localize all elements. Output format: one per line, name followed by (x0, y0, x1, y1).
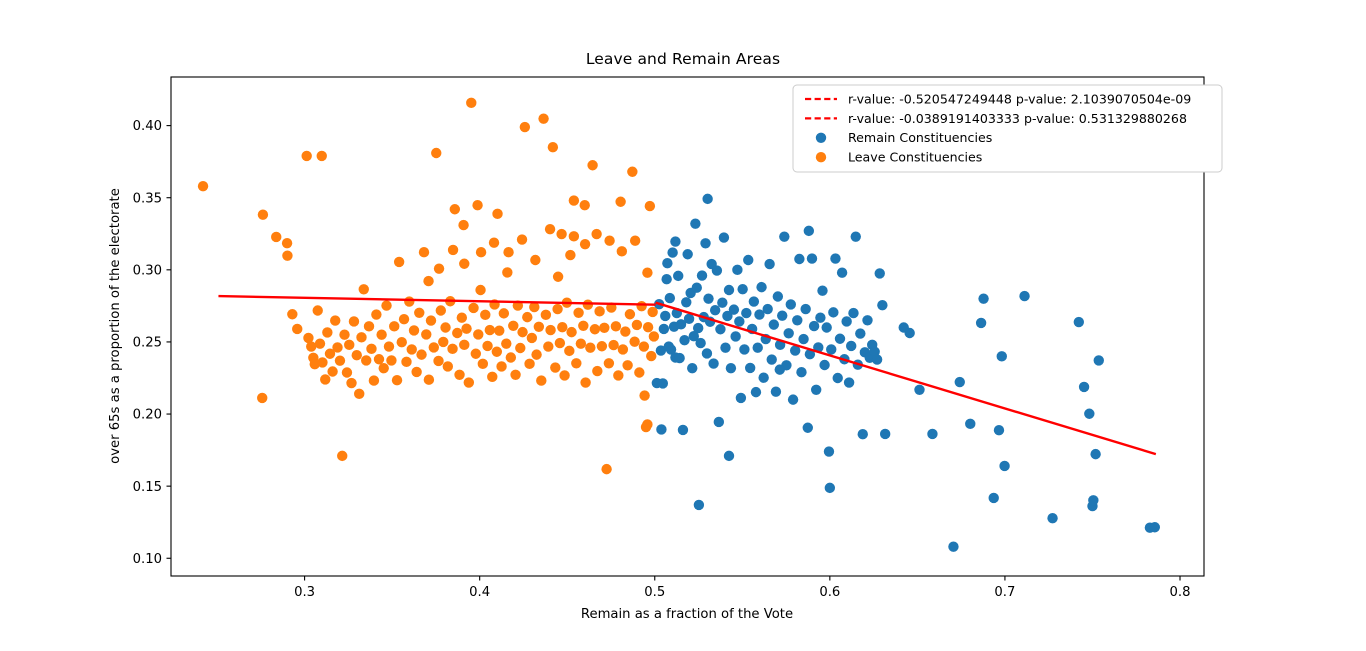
data-point (587, 160, 597, 170)
data-point (492, 347, 502, 357)
y-tick-label: 0.25 (133, 336, 162, 351)
data-point (659, 324, 669, 334)
data-point (679, 335, 689, 345)
data-point (687, 363, 697, 373)
data-point (649, 331, 659, 341)
data-point (487, 372, 497, 382)
data-point (758, 373, 768, 383)
data-point (454, 370, 464, 380)
data-point (344, 340, 354, 350)
data-point (682, 249, 692, 259)
data-point (515, 343, 525, 353)
data-point (361, 355, 371, 365)
data-point (591, 229, 601, 239)
data-point (424, 375, 434, 385)
data-point (556, 229, 566, 239)
y-tick-label: 0.40 (133, 119, 162, 134)
data-point (489, 238, 499, 248)
data-point (381, 300, 391, 310)
data-point (1090, 449, 1100, 459)
data-point (409, 325, 419, 335)
data-point (485, 325, 495, 335)
data-point (708, 358, 718, 368)
data-point (997, 351, 1007, 361)
data-point (448, 245, 458, 255)
legend-label: Remain Constituencies (848, 130, 992, 145)
data-point (743, 255, 753, 265)
data-point (625, 309, 635, 319)
data-point (545, 325, 555, 335)
data-point (684, 314, 694, 324)
data-point (661, 274, 671, 284)
data-point (788, 394, 798, 404)
data-point (494, 325, 504, 335)
data-point (416, 349, 426, 359)
data-point (576, 338, 586, 348)
x-tick-label: 0.3 (294, 585, 315, 600)
data-point (809, 321, 819, 331)
data-point (779, 231, 789, 241)
data-point (1094, 355, 1104, 365)
data-point (1047, 513, 1057, 523)
data-point (1074, 317, 1084, 327)
x-tick-label: 0.7 (994, 585, 1015, 600)
data-point (301, 151, 311, 161)
data-point (665, 293, 675, 303)
data-point (580, 200, 590, 210)
data-point (501, 338, 511, 348)
data-point (646, 351, 656, 361)
data-point (678, 425, 688, 435)
data-point (771, 386, 781, 396)
data-point (965, 419, 975, 429)
data-point (496, 361, 506, 371)
data-point (550, 362, 560, 372)
data-point (717, 298, 727, 308)
data-point (315, 338, 325, 348)
data-point (642, 268, 652, 278)
data-point (948, 542, 958, 552)
data-point (349, 316, 359, 326)
data-point (468, 303, 478, 313)
data-point (389, 321, 399, 331)
data-point (729, 304, 739, 314)
data-point (376, 330, 386, 340)
data-point (522, 312, 532, 322)
data-point (352, 350, 362, 360)
data-point (271, 232, 281, 242)
data-point (342, 367, 352, 377)
data-point (811, 385, 821, 395)
data-point (753, 343, 763, 353)
chart-legend[interactable]: r-value: -0.520547249448 p-value: 2.1039… (793, 85, 1222, 172)
data-point (492, 209, 502, 219)
data-point (475, 285, 485, 295)
data-point (712, 265, 722, 275)
data-point (694, 500, 704, 510)
data-point (798, 334, 808, 344)
data-point (830, 253, 840, 263)
data-point (858, 429, 868, 439)
data-point (767, 354, 777, 364)
data-point (478, 359, 488, 369)
data-point (620, 326, 630, 336)
x-tick-label: 0.6 (819, 585, 840, 600)
data-point (615, 197, 625, 207)
data-point (258, 210, 268, 220)
data-point (517, 234, 527, 244)
legend-label: Leave Constituencies (848, 150, 982, 165)
data-point (330, 315, 340, 325)
data-point (611, 321, 621, 331)
legend-marker-swatch (816, 152, 826, 162)
data-point (851, 231, 861, 241)
data-point (622, 360, 632, 370)
data-point (692, 283, 702, 293)
data-point (775, 364, 785, 374)
data-point (673, 271, 683, 281)
data-point (566, 327, 576, 337)
data-point (374, 354, 384, 364)
data-point (517, 327, 527, 337)
data-point (502, 267, 512, 277)
x-tick-label: 0.4 (469, 585, 490, 600)
data-point (749, 296, 759, 306)
x-axis-ticks: 0.30.40.50.60.70.8 (294, 576, 1190, 600)
data-point (835, 334, 845, 344)
data-point (618, 344, 628, 354)
data-point (848, 308, 858, 318)
data-point (585, 343, 595, 353)
data-point (536, 375, 546, 385)
data-point (580, 239, 590, 249)
data-point (630, 235, 640, 245)
data-point (762, 304, 772, 314)
data-point (604, 235, 614, 245)
data-point (999, 461, 1009, 471)
data-point (429, 342, 439, 352)
data-point (715, 324, 725, 334)
data-point (994, 425, 1004, 435)
data-point (404, 296, 414, 306)
data-point (506, 352, 516, 362)
data-point (784, 328, 794, 338)
data-point (877, 300, 887, 310)
data-point (751, 387, 761, 397)
data-point (647, 307, 657, 317)
data-point (458, 220, 468, 230)
data-point (720, 343, 730, 353)
data-point (459, 340, 469, 350)
data-point (257, 393, 267, 403)
data-point (538, 113, 548, 123)
data-point (292, 324, 302, 334)
data-point (794, 254, 804, 264)
data-point (819, 360, 829, 370)
data-point (667, 247, 677, 257)
data-point (702, 348, 712, 358)
data-point (880, 429, 890, 439)
data-point (927, 429, 937, 439)
data-point (719, 232, 729, 242)
data-point (436, 305, 446, 315)
data-point (800, 304, 810, 314)
data-point (703, 293, 713, 303)
data-point (826, 344, 836, 354)
data-point (394, 257, 404, 267)
data-point (989, 493, 999, 503)
x-tick-label: 0.5 (644, 585, 665, 600)
data-point (407, 344, 417, 354)
data-point (499, 308, 509, 318)
data-point (346, 378, 356, 388)
data-point (632, 320, 642, 330)
data-point (397, 337, 407, 347)
data-point (1150, 522, 1160, 532)
data-point (796, 367, 806, 377)
data-point (371, 309, 381, 319)
data-point (317, 357, 327, 367)
data-point (807, 253, 817, 263)
data-point (287, 309, 297, 319)
data-point (674, 353, 684, 363)
data-point (804, 226, 814, 236)
data-point (401, 357, 411, 367)
data-point (452, 328, 462, 338)
data-point (317, 151, 327, 161)
data-point (434, 263, 444, 273)
data-point (503, 247, 513, 257)
data-point (545, 224, 555, 234)
data-point (564, 346, 574, 356)
y-tick-label: 0.15 (133, 480, 162, 495)
data-point (534, 322, 544, 332)
data-point (629, 336, 639, 346)
data-point (573, 308, 583, 318)
data-point (824, 446, 834, 456)
data-point (976, 318, 986, 328)
data-point (837, 268, 847, 278)
data-point (580, 377, 590, 387)
data-point (431, 148, 441, 158)
data-point (450, 204, 460, 214)
data-point (833, 373, 843, 383)
data-point (530, 255, 540, 265)
data-point (670, 236, 680, 246)
data-point (426, 315, 436, 325)
data-point (617, 246, 627, 256)
data-point (1019, 291, 1029, 301)
data-point (855, 328, 865, 338)
data-point (732, 265, 742, 275)
data-point (466, 98, 476, 108)
data-point (472, 200, 482, 210)
data-point (386, 355, 396, 365)
data-point (745, 363, 755, 373)
data-point (597, 341, 607, 351)
data-point (356, 332, 366, 342)
data-point (524, 359, 534, 369)
data-point (392, 375, 402, 385)
data-point (828, 307, 838, 317)
data-point (369, 375, 379, 385)
data-point (645, 201, 655, 211)
data-point (541, 310, 551, 320)
data-point (821, 322, 831, 332)
data-point (414, 308, 424, 318)
data-point (634, 367, 644, 377)
data-point (608, 340, 618, 350)
data-point (639, 390, 649, 400)
data-point (555, 338, 565, 348)
data-point (726, 363, 736, 373)
data-point (592, 366, 602, 376)
data-point (700, 238, 710, 248)
data-point (904, 328, 914, 338)
data-point (332, 342, 342, 352)
data-point (978, 293, 988, 303)
data-point (473, 329, 483, 339)
data-point (643, 322, 653, 332)
data-point (714, 417, 724, 427)
data-point (658, 378, 668, 388)
y-tick-label: 0.35 (133, 191, 162, 206)
data-point (557, 322, 567, 332)
data-point (359, 284, 369, 294)
legend-label: r-value: -0.0389191403333 p-value: 0.531… (848, 111, 1187, 126)
data-point (741, 308, 751, 318)
data-point (471, 349, 481, 359)
data-point (411, 367, 421, 377)
data-point (433, 356, 443, 366)
data-point (531, 349, 541, 359)
data-point (690, 218, 700, 228)
data-point (366, 344, 376, 354)
data-point (198, 181, 208, 191)
data-point (662, 258, 672, 268)
data-point (476, 247, 486, 257)
data-point (777, 310, 787, 320)
data-point (724, 285, 734, 295)
data-point (379, 363, 389, 373)
data-point (447, 344, 457, 354)
data-point (872, 354, 882, 364)
data-point (552, 304, 562, 314)
data-point (553, 272, 563, 282)
data-point (569, 231, 579, 241)
data-point (548, 142, 558, 152)
data-point (459, 259, 469, 269)
data-point (384, 341, 394, 351)
data-point (803, 423, 813, 433)
y-axis-label: over 65s as a proportion of the electora… (108, 188, 123, 464)
data-point (569, 195, 579, 205)
data-point (571, 358, 581, 368)
data-point (335, 355, 345, 365)
data-point (599, 323, 609, 333)
data-point (627, 167, 637, 177)
x-tick-label: 0.8 (1170, 585, 1191, 600)
data-point (510, 370, 520, 380)
data-point (825, 483, 835, 493)
data-point (438, 337, 448, 347)
data-point (327, 366, 337, 376)
data-point (697, 270, 707, 280)
x-axis-label: Remain as a fraction of the Vote (581, 607, 793, 622)
data-point (639, 341, 649, 351)
data-point (464, 377, 474, 387)
data-point (604, 358, 614, 368)
data-point (737, 284, 747, 294)
y-tick-label: 0.20 (133, 408, 162, 423)
data-point (322, 327, 332, 337)
data-point (543, 341, 553, 351)
y-tick-label: 0.30 (133, 263, 162, 278)
data-point (815, 313, 825, 323)
figure-canvas: Leave and Remain Areas 0.30.40.50.60.70.… (0, 0, 1366, 651)
data-point (1084, 409, 1094, 419)
data-point (282, 238, 292, 248)
data-point (559, 370, 569, 380)
data-point (734, 316, 744, 326)
data-point (590, 324, 600, 334)
data-point (601, 464, 611, 474)
data-point (786, 299, 796, 309)
data-point (642, 419, 652, 429)
data-point (583, 300, 593, 310)
data-point (730, 331, 740, 341)
data-point (681, 297, 691, 307)
data-point (846, 341, 856, 351)
data-point (792, 315, 802, 325)
data-point (578, 321, 588, 331)
data-point (320, 374, 330, 384)
data-point (875, 268, 885, 278)
data-point (613, 370, 623, 380)
data-point (399, 314, 409, 324)
data-point (773, 291, 783, 301)
data-point (693, 323, 703, 333)
data-point (527, 333, 537, 343)
data-point (736, 393, 746, 403)
data-point (769, 319, 779, 329)
data-point (313, 305, 323, 315)
data-point (739, 344, 749, 354)
data-point (841, 316, 851, 326)
data-point (1088, 495, 1098, 505)
legend-label: r-value: -0.520547249448 p-value: 2.1039… (848, 91, 1191, 106)
data-point (695, 338, 705, 348)
scatter-plot: 0.30.40.50.60.70.8 0.100.150.200.250.300… (0, 0, 1366, 651)
data-point (1079, 382, 1089, 392)
data-point (443, 361, 453, 371)
data-point (914, 385, 924, 395)
data-point (480, 310, 490, 320)
data-point (337, 451, 347, 461)
data-point (520, 122, 530, 132)
data-point (724, 451, 734, 461)
data-point (660, 311, 670, 321)
data-point (656, 424, 666, 434)
y-tick-label: 0.10 (133, 552, 162, 567)
legend-marker-swatch (816, 133, 826, 143)
data-point (844, 377, 854, 387)
data-point (565, 250, 575, 260)
data-point (419, 247, 429, 257)
y-axis-ticks: 0.100.150.200.250.300.350.40 (133, 119, 171, 567)
data-point (423, 276, 433, 286)
data-point (594, 306, 604, 316)
